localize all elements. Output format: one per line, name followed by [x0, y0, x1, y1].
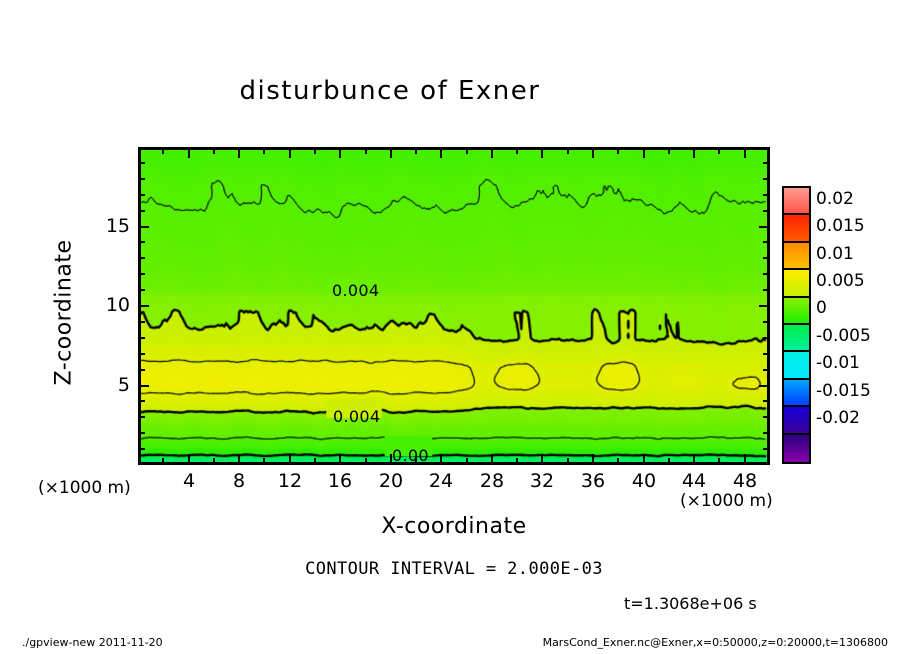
x-tick-bottom: [440, 454, 442, 463]
page-title: disturbunce of Exner: [0, 76, 780, 106]
x-tick-top: [693, 149, 695, 158]
colorbar-label: -0.015: [816, 381, 871, 401]
y-axis-title: Z-coordinate: [52, 223, 77, 403]
x-tick-label: 48: [715, 470, 775, 492]
y-tick-left: [140, 337, 145, 339]
x-tick-bottom: [289, 454, 291, 463]
y-tick-left: [140, 289, 145, 291]
colorbar-label: -0.01: [816, 353, 860, 373]
x-axis-title: X-coordinate: [138, 514, 770, 539]
x-tick-top: [390, 149, 392, 158]
y-tick-left: [140, 194, 145, 196]
contour-label: 0.004: [332, 281, 379, 300]
colorbar-band: [784, 380, 809, 407]
y-tick-left: [140, 257, 145, 259]
contour-label: 0.004: [333, 407, 380, 426]
y-tick-label: 10: [98, 294, 130, 316]
y-tick-left: [140, 162, 145, 164]
x-tick-top: [617, 149, 619, 154]
y-tick-left: [140, 385, 149, 387]
y-tick-left: [140, 369, 145, 371]
y-tick-right: [763, 353, 768, 355]
colorbar-band: [784, 188, 809, 215]
x-tick-bottom: [491, 454, 493, 463]
x-tick-bottom: [314, 458, 316, 463]
x-tick-top: [516, 149, 518, 154]
time-stamp: t=1.3068e+06 s: [624, 594, 757, 613]
y-tick-right: [759, 226, 768, 228]
y-tick-right: [763, 257, 768, 259]
colorbar-label: 0.015: [816, 216, 865, 236]
y-tick-right: [763, 289, 768, 291]
x-tick-top: [567, 149, 569, 154]
y-tick-left: [140, 305, 149, 307]
y-tick-right: [763, 400, 768, 402]
colorbar-band: [784, 435, 809, 462]
contour-plot-area: [138, 147, 770, 465]
y-tick-left: [140, 241, 145, 243]
x-tick-bottom: [516, 458, 518, 463]
y-tick-right: [763, 321, 768, 323]
x-tick-top: [440, 149, 442, 158]
footer-source: MarsCond_Exner.nc@Exner,x=0:50000,z=0:20…: [543, 636, 888, 649]
y-tick-left: [140, 210, 145, 212]
y-tick-left: [140, 321, 145, 323]
x-tick-top: [643, 149, 645, 158]
y-tick-right: [763, 210, 768, 212]
x-tick-top: [213, 149, 215, 154]
x-tick-bottom: [592, 454, 594, 463]
y-tick-right: [763, 241, 768, 243]
contour-interval-note: CONTOUR INTERVAL = 2.000E-03: [138, 559, 770, 579]
x-tick-top: [188, 149, 190, 158]
colorbar: [782, 186, 811, 464]
x-tick-top: [263, 149, 265, 154]
y-tick-label: 15: [98, 215, 130, 237]
x-tick-bottom: [744, 454, 746, 463]
y-tick-right: [763, 369, 768, 371]
figure-root: disturbunce of Exner 4812162024283236404…: [0, 0, 904, 654]
x-tick-top: [339, 149, 341, 158]
colorbar-band: [784, 243, 809, 270]
y-tick-left: [140, 416, 145, 418]
x-tick-top: [668, 149, 670, 154]
colorbar-label: 0.005: [816, 271, 865, 291]
x-tick-top: [238, 149, 240, 158]
x-tick-top: [541, 149, 543, 158]
y-tick-left: [140, 226, 149, 228]
y-tick-right: [763, 416, 768, 418]
colorbar-label: -0.005: [816, 326, 871, 346]
colorbar-band: [784, 270, 809, 297]
x-tick-top: [466, 149, 468, 154]
x-tick-top: [365, 149, 367, 154]
y-tick-left: [140, 273, 145, 275]
x-tick-bottom: [213, 458, 215, 463]
x-tick-top: [592, 149, 594, 158]
y-tick-right: [763, 448, 768, 450]
x-tick-bottom: [567, 458, 569, 463]
y-tick-right: [763, 337, 768, 339]
colorbar-label: -0.02: [816, 408, 860, 428]
x-tick-bottom: [365, 458, 367, 463]
x-tick-bottom: [162, 458, 164, 463]
colorbar-band: [784, 298, 809, 325]
y-tick-left: [140, 400, 145, 402]
x-tick-bottom: [339, 454, 341, 463]
colorbar-label: 0: [816, 298, 827, 318]
y-tick-right: [763, 194, 768, 196]
colorbar-label: 0.02: [816, 189, 854, 209]
x-tick-bottom: [238, 454, 240, 463]
x-tick-top: [718, 149, 720, 154]
y-tick-left: [140, 178, 145, 180]
x-tick-bottom: [668, 458, 670, 463]
x-tick-bottom: [263, 458, 265, 463]
contour-field: [141, 150, 767, 462]
y-tick-right: [763, 178, 768, 180]
y-tick-left: [140, 448, 145, 450]
x-tick-top: [491, 149, 493, 158]
colorbar-band: [784, 407, 809, 434]
x-tick-top: [415, 149, 417, 154]
y-tick-right: [759, 385, 768, 387]
y-tick-label: 5: [98, 374, 130, 396]
x-tick-bottom: [718, 458, 720, 463]
y-tick-right: [763, 162, 768, 164]
y-tick-right: [759, 305, 768, 307]
x-tick-bottom: [617, 458, 619, 463]
contour-label: 0.00: [392, 446, 429, 465]
x-tick-bottom: [643, 454, 645, 463]
x-tick-top: [314, 149, 316, 154]
x-tick-bottom: [541, 454, 543, 463]
y-tick-right: [763, 432, 768, 434]
x-tick-top: [289, 149, 291, 158]
x-tick-top: [162, 149, 164, 154]
colorbar-band: [784, 325, 809, 352]
y-axis-units: (×1000 m): [38, 478, 131, 498]
colorbar-band: [784, 352, 809, 379]
x-tick-bottom: [693, 454, 695, 463]
y-tick-right: [763, 273, 768, 275]
y-tick-left: [140, 432, 145, 434]
footer-command: ./gpview-new 2011-11-20: [22, 636, 163, 649]
colorbar-band: [784, 215, 809, 242]
x-tick-top: [744, 149, 746, 158]
x-tick-bottom: [188, 454, 190, 463]
y-tick-left: [140, 353, 145, 355]
x-axis-units: (×1000 m): [680, 491, 773, 511]
colorbar-label: 0.01: [816, 244, 854, 264]
x-tick-bottom: [466, 458, 468, 463]
